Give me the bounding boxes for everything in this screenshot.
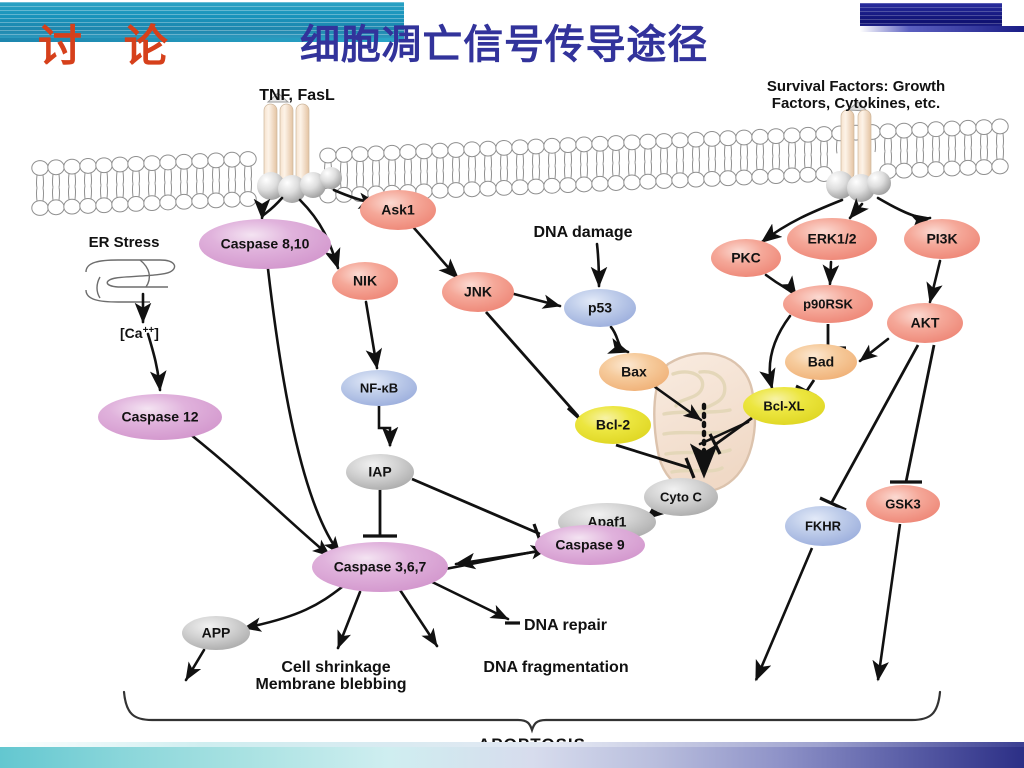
label-tnf-fasl: TNF, FasL xyxy=(259,87,335,104)
node-label-caspase9: Caspase 9 xyxy=(555,537,624,553)
node-bax[interactable]: Bax xyxy=(599,353,669,391)
node-p90rsk[interactable]: p90RSK xyxy=(783,285,873,323)
node-caspase367[interactable]: Caspase 3,6,7 xyxy=(312,542,448,592)
node-label-bclxl: Bcl-XL xyxy=(763,398,804,413)
node-label-p53: p53 xyxy=(588,300,612,316)
node-label-pkc: PKC xyxy=(731,250,761,266)
node-label-p90rsk: p90RSK xyxy=(803,296,853,311)
survival-down-arrows xyxy=(756,524,900,680)
node-label-fkhr: FKHR xyxy=(805,518,842,533)
top-right-accent-tail xyxy=(860,26,1024,32)
node-iap[interactable]: IAP xyxy=(346,454,414,490)
node-caspase810[interactable]: Caspase 8,10 xyxy=(199,219,331,269)
node-label-gsk3: GSK3 xyxy=(885,496,920,511)
node-erk12[interactable]: ERK1/2 xyxy=(787,218,877,260)
node-nik[interactable]: NIK xyxy=(332,262,398,300)
label-dna-fragmentation: DNA fragmentation xyxy=(483,659,628,676)
node-cytoc[interactable]: Cyto C xyxy=(644,478,718,516)
label-dna-damage: DNA damage xyxy=(534,224,633,241)
node-gsk3[interactable]: GSK3 xyxy=(866,485,940,523)
node-ask1[interactable]: Ask1 xyxy=(360,190,436,230)
node-akt[interactable]: AKT xyxy=(887,303,963,343)
growth-factor-receptor xyxy=(826,102,891,202)
node-bad[interactable]: Bad xyxy=(785,344,857,380)
node-label-app: APP xyxy=(202,625,231,641)
node-label-ask1: Ask1 xyxy=(381,202,415,218)
node-caspase9[interactable]: Caspase 9 xyxy=(535,525,645,565)
node-pi3k[interactable]: PI3K xyxy=(904,219,980,259)
calcium-open: [Ca xyxy=(120,325,143,341)
node-p53[interactable]: p53 xyxy=(564,289,636,327)
label-membrane-blebbing: Membrane blebbing xyxy=(255,676,406,693)
svg-text:[Ca++]: [Ca++] xyxy=(120,325,159,341)
label-survival-factors-line2: Factors, Cytokines, etc. xyxy=(772,95,940,112)
label-er-stress: ER Stress xyxy=(89,234,160,251)
node-pkc[interactable]: PKC xyxy=(711,239,781,277)
node-bcl2[interactable]: Bcl-2 xyxy=(575,406,651,444)
node-label-caspase367: Caspase 3,6,7 xyxy=(334,559,427,575)
node-app[interactable]: APP xyxy=(182,616,250,650)
node-label-akt: AKT xyxy=(911,315,940,331)
node-label-cytoc: Cyto C xyxy=(660,489,703,504)
node-label-caspase12: Caspase 12 xyxy=(121,409,198,425)
bottom-accent-bar xyxy=(0,746,1024,768)
apoptosis-brace xyxy=(124,692,940,730)
node-label-bax: Bax xyxy=(621,364,647,380)
node-nfkb[interactable]: NF-κB xyxy=(341,370,417,406)
label-cell-shrinkage: Cell shrinkage xyxy=(281,659,390,676)
node-label-nik: NIK xyxy=(353,273,377,289)
node-label-iap: IAP xyxy=(368,464,391,480)
node-fkhr[interactable]: FKHR xyxy=(785,506,861,546)
slide-title-left: 讨 论 xyxy=(38,10,181,74)
node-label-bad: Bad xyxy=(808,354,834,370)
node-bclxl[interactable]: Bcl-XL xyxy=(743,387,825,425)
label-dna-repair: DNA repair xyxy=(524,617,607,634)
page-title: 细胞凋亡信号传导途径 xyxy=(300,12,708,70)
er-organelle xyxy=(86,260,175,302)
calcium-charge: ++ xyxy=(143,325,155,336)
apoptosis-pathway-diagram: Ask1Caspase 8,10NIKJNKp53NF-κBCaspase 12… xyxy=(0,72,1024,744)
node-label-jnk: JNK xyxy=(464,284,492,300)
pathway-nodes: Ask1Caspase 8,10NIKJNKp53NF-κBCaspase 12… xyxy=(98,190,980,650)
node-label-bcl2: Bcl-2 xyxy=(596,417,630,433)
node-label-pi3k: PI3K xyxy=(926,231,957,247)
label-calcium: [Ca++] xyxy=(120,325,159,341)
node-caspase12[interactable]: Caspase 12 xyxy=(98,394,222,440)
node-label-erk12: ERK1/2 xyxy=(807,231,856,247)
node-label-nfkb: NF-κB xyxy=(360,380,398,395)
node-jnk[interactable]: JNK xyxy=(442,272,514,312)
slide-root: 讨 论 细胞凋亡信号传导途径 xyxy=(0,0,1024,768)
node-label-caspase810: Caspase 8,10 xyxy=(221,236,310,252)
calcium-close: ] xyxy=(154,325,159,341)
label-survival-factors-line1: Survival Factors: Growth xyxy=(767,78,945,95)
